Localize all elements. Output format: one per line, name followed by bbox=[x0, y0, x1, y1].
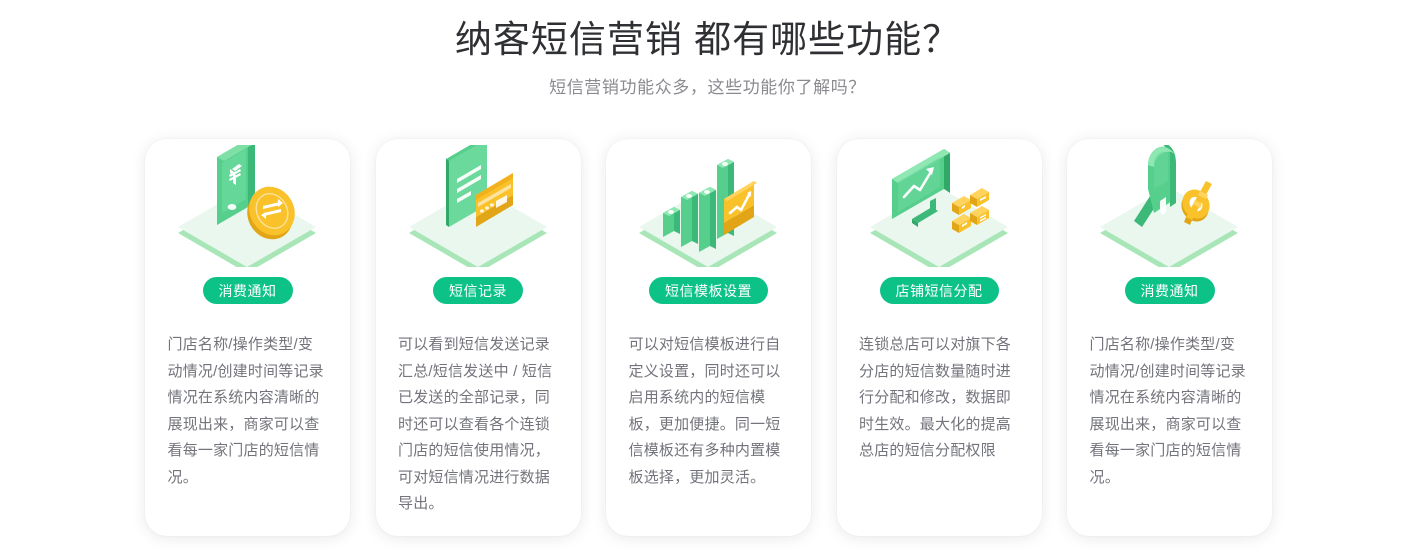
card-badge[interactable]: 消费通知 bbox=[1125, 277, 1215, 304]
feature-card[interactable]: 短信记录 可以看到短信发送记录汇总/短信发送中 / 短信已发送的全部记录，同时还… bbox=[376, 139, 581, 536]
phone-coin-icon bbox=[160, 145, 335, 267]
card-badge[interactable]: 短信记录 bbox=[433, 277, 523, 304]
monitor-tiles-icon bbox=[852, 145, 1027, 267]
feature-card[interactable]: 消费通知 门店名称/操作类型/变动情况/创建时间等记录情况在系统内容清晰的展现出… bbox=[145, 139, 350, 536]
card-illustration bbox=[1082, 145, 1257, 267]
card-badge[interactable]: 消费通知 bbox=[203, 277, 293, 304]
card-illustration bbox=[852, 145, 1027, 267]
card-description: 可以看到短信发送记录汇总/短信发送中 / 短信已发送的全部记录，同时还可以查看各… bbox=[398, 332, 558, 518]
feature-card[interactable]: 消费通知 门店名称/操作类型/变动情况/创建时间等记录情况在系统内容清晰的展现出… bbox=[1067, 139, 1272, 536]
card-illustration bbox=[621, 145, 796, 267]
card-description: 可以对短信模板进行自定义设置，同时还可以启用系统内的短信模板，更加便捷。同一短信… bbox=[629, 332, 789, 491]
card-illustration bbox=[391, 145, 566, 267]
feature-card[interactable]: 店铺短信分配 连锁总店可以对旗下各分店的短信数量随时进行分配和修改，数据即时生效… bbox=[837, 139, 1042, 536]
feature-card-list: 消费通知 门店名称/操作类型/变动情况/创建时间等记录情况在系统内容清晰的展现出… bbox=[145, 139, 1272, 536]
card-description: 连锁总店可以对旗下各分店的短信数量随时进行分配和修改，数据即时生效。最大化的提高… bbox=[859, 332, 1019, 465]
bar-chart-icon bbox=[621, 145, 796, 267]
card-badge[interactable]: 短信模板设置 bbox=[649, 277, 768, 304]
page-title: 纳客短信营销 都有哪些功能？ bbox=[0, 14, 1415, 66]
card-description: 门店名称/操作类型/变动情况/创建时间等记录情况在系统内容清晰的展现出来，商家可… bbox=[168, 332, 328, 491]
card-illustration bbox=[160, 145, 335, 267]
feature-section: 纳客短信营销 都有哪些功能？ 短信营销功能众多，这些功能你了解吗？ bbox=[0, 0, 1415, 557]
rocket-key-icon bbox=[1082, 145, 1257, 267]
card-description: 门店名称/操作类型/变动情况/创建时间等记录情况在系统内容清晰的展现出来，商家可… bbox=[1090, 332, 1250, 491]
card-badge[interactable]: 店铺短信分配 bbox=[880, 277, 999, 304]
section-header: 纳客短信营销 都有哪些功能？ 短信营销功能众多，这些功能你了解吗？ bbox=[0, 0, 1415, 101]
document-card-icon bbox=[391, 145, 566, 267]
feature-card[interactable]: 短信模板设置 可以对短信模板进行自定义设置，同时还可以启用系统内的短信模板，更加… bbox=[606, 139, 811, 536]
page-subtitle: 短信营销功能众多，这些功能你了解吗？ bbox=[0, 75, 1415, 101]
